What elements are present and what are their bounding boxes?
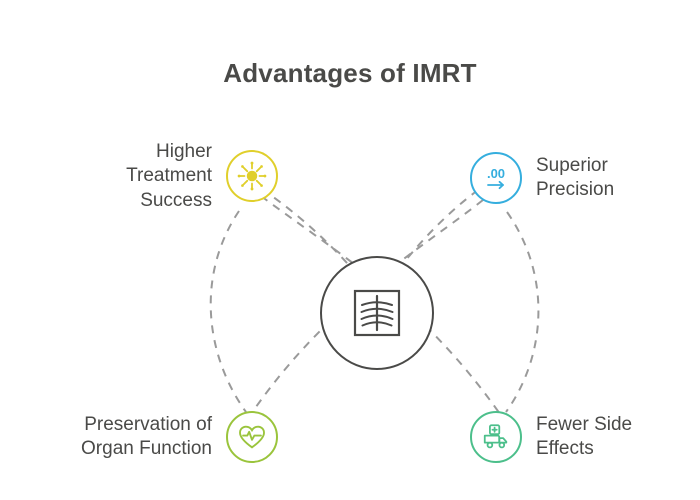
decimal-precision-icon-text: .00 [487,166,505,181]
node-label-preservation-organ-function: Preservation of Organ Function [81,413,212,462]
heart-pulse-icon [237,422,267,452]
virus-icon [237,161,267,191]
node-label-fewer-side-effects: Fewer Side Effects [536,413,632,462]
ambulance-icon [481,422,511,452]
bubble-superior-precision: .00 [470,152,522,204]
bubble-higher-treatment-success [226,150,278,202]
connector-arc-right-sweep [506,212,538,412]
node-label-superior-precision: Superior Precision [536,154,614,203]
node-label-higher-treatment-success: Higher Treatment Success [126,140,212,213]
center-node-chest-xray[interactable] [320,256,434,370]
chest-xray-icon [349,285,405,341]
node-fewer-side-effects[interactable]: Fewer Side Effects [470,411,690,463]
bubble-preservation-organ-function [226,411,278,463]
node-preservation-organ-function[interactable]: Preservation of Organ Function [12,411,278,463]
decimal-precision-icon: .00 [479,161,513,195]
node-higher-treatment-success[interactable]: Higher Treatment Success [12,140,278,213]
infographic-canvas: Advantages of IMRT Higher Treatment Succ… [0,0,700,500]
node-superior-precision[interactable]: .00 Superior Precision [470,152,690,204]
connector-arc-left-sweep [211,211,246,412]
bubble-fewer-side-effects [470,411,522,463]
